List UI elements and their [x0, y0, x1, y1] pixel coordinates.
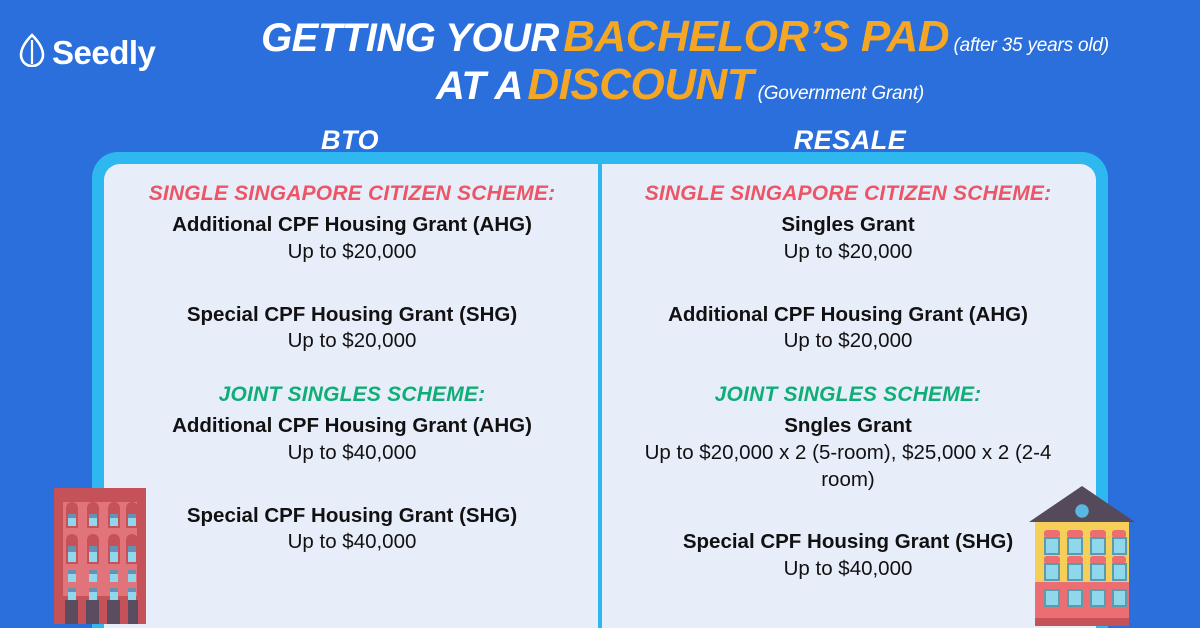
infographic-canvas: Seedly GETTING YOUR BACHELOR’S PAD (afte…: [0, 0, 1200, 628]
grant-item: Special CPF Housing Grant (SHG) Up to $2…: [122, 302, 582, 355]
grant-item: Special CPF Housing Grant (SHG) Up to $4…: [122, 503, 582, 556]
comparison-card-body: SINGLE SINGAPORE CITIZEN SCHEME: Additio…: [104, 164, 1096, 628]
headline-highlight-1: BACHELOR’S PAD: [563, 12, 949, 61]
grant-amount: Up to $20,000: [122, 328, 582, 355]
scheme-heading: SINGLE SINGAPORE CITIZEN SCHEME:: [122, 180, 582, 208]
grant-item: Special CPF Housing Grant (SHG) Up to $4…: [618, 529, 1078, 582]
grant-item: Singles Grant Up to $20,000: [618, 212, 1078, 265]
spacer: [618, 266, 1078, 302]
seedly-wordmark: Seedly: [52, 36, 155, 69]
spacer: [122, 266, 582, 302]
yellow-house-building-icon: [1027, 478, 1137, 628]
headline-part-1: GETTING YOUR: [261, 16, 559, 60]
column-resale: SINGLE SINGAPORE CITIZEN SCHEME: Singles…: [600, 164, 1096, 628]
headline-note-1: (after 35 years old): [953, 35, 1108, 56]
grant-amount: Up to $40,000: [122, 529, 582, 556]
grant-amount: Up to $20,000: [618, 328, 1078, 355]
grant-name: Special CPF Housing Grant (SHG): [618, 529, 1078, 556]
seed-leaf-icon: [18, 33, 46, 72]
scheme-heading: JOINT SINGLES SCHEME:: [122, 381, 582, 409]
grant-name: Special CPF Housing Grant (SHG): [122, 302, 582, 329]
grant-item: Additional CPF Housing Grant (AHG) Up to…: [122, 212, 582, 265]
column-divider: [598, 164, 602, 628]
spacer: [618, 493, 1078, 529]
headline-block: GETTING YOUR BACHELOR’S PAD (after 35 ye…: [170, 14, 1190, 108]
scheme-heading: JOINT SINGLES SCHEME:: [618, 381, 1078, 409]
grant-name: Additional CPF Housing Grant (AHG): [122, 413, 582, 440]
spacer: [122, 467, 582, 503]
red-apartment-building-icon: [48, 478, 152, 628]
grant-name: Additional CPF Housing Grant (AHG): [122, 212, 582, 239]
headline-part-2: AT A: [436, 64, 523, 108]
grant-name: Singles Grant: [618, 212, 1078, 239]
comparison-card: SINGLE SINGAPORE CITIZEN SCHEME: Additio…: [92, 152, 1108, 628]
spacer: [122, 355, 582, 381]
grant-name: Additional CPF Housing Grant (AHG): [618, 302, 1078, 329]
grant-item: Additional CPF Housing Grant (AHG) Up to…: [122, 413, 582, 466]
grant-amount: Up to $40,000: [122, 440, 582, 467]
headline-note-2: (Government Grant): [758, 83, 924, 104]
grant-item: Sngles Grant Up to $20,000 x 2 (5-room),…: [618, 413, 1078, 493]
grant-name: Sngles Grant: [618, 413, 1078, 440]
grant-amount: Up to $20,000: [122, 239, 582, 266]
grant-amount: Up to $20,000 x 2 (5-room), $25,000 x 2 …: [618, 440, 1078, 493]
spacer: [618, 355, 1078, 381]
grant-item: Additional CPF Housing Grant (AHG) Up to…: [618, 302, 1078, 355]
seedly-logo: Seedly: [18, 33, 155, 72]
grant-amount: Up to $20,000: [618, 239, 1078, 266]
scheme-heading: SINGLE SINGAPORE CITIZEN SCHEME:: [618, 180, 1078, 208]
headline-highlight-2: DISCOUNT: [527, 60, 753, 109]
grant-amount: Up to $40,000: [618, 556, 1078, 583]
grant-name: Special CPF Housing Grant (SHG): [122, 503, 582, 530]
column-bto: SINGLE SINGAPORE CITIZEN SCHEME: Additio…: [104, 164, 600, 628]
